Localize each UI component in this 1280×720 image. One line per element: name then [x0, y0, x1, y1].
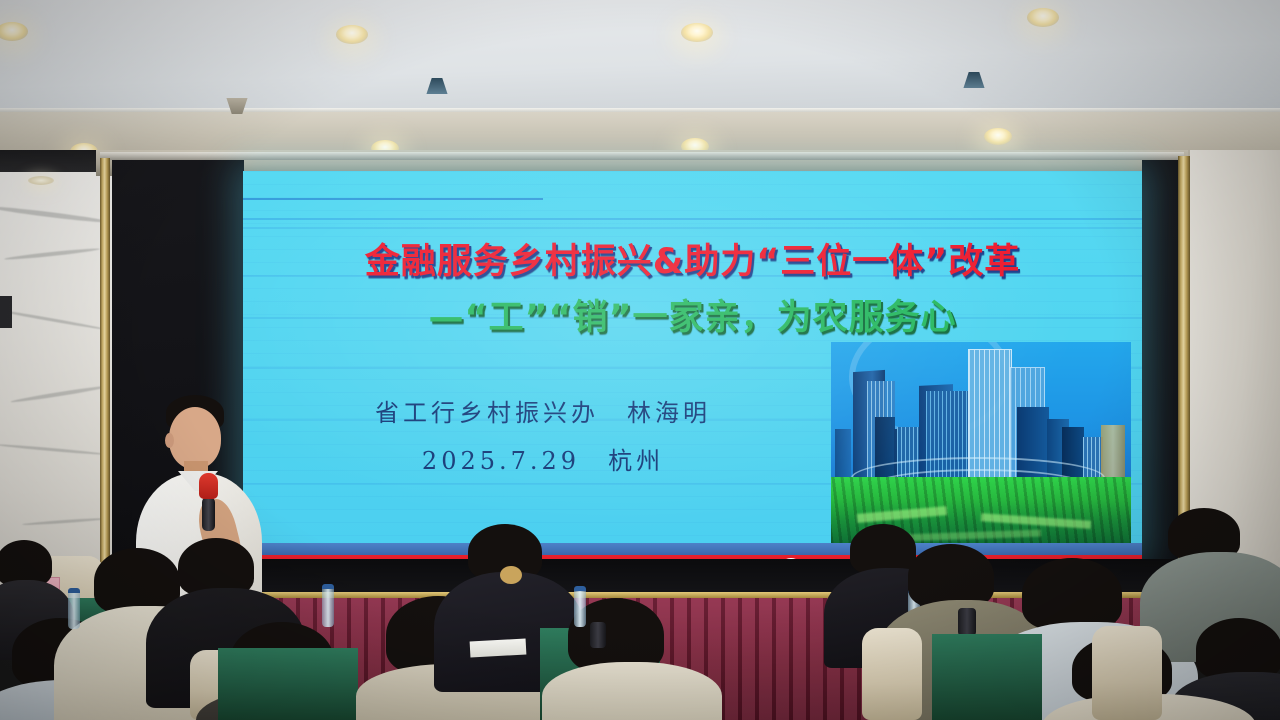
delegate-table [218, 648, 358, 720]
presenter-head [169, 407, 221, 469]
audience-member [0, 540, 62, 630]
slide-dateline: 2025.7.29 杭州 [303, 441, 783, 476]
thermos-cup[interactable] [958, 608, 976, 636]
led-presentation-screen[interactable]: 金融服务乡村振兴&助力“三位一体”改革 —“工”“销”一家亲，为农服务心 省工行… [243, 171, 1142, 559]
water-bottle[interactable] [574, 586, 586, 627]
recessed-downlight [336, 25, 368, 44]
stage-valance-rail [100, 152, 1184, 160]
screen-bandline [243, 198, 543, 200]
microphone-handle [202, 497, 215, 531]
wall-wash-light [28, 176, 54, 185]
audience-hair [1022, 558, 1122, 630]
recessed-downlight [1027, 8, 1059, 27]
audience-ponytail [500, 566, 522, 584]
handout-paper[interactable] [470, 639, 527, 658]
thermos-cup[interactable] [590, 622, 606, 648]
screen-bandline [243, 218, 1142, 220]
recessed-downlight [681, 23, 713, 42]
water-bottle[interactable] [322, 584, 334, 627]
slide-title-line2: —“工”“销”一家亲，为农服务心 [243, 289, 1142, 340]
audience-torso [542, 662, 722, 720]
chair [1092, 626, 1162, 720]
chair [862, 628, 922, 720]
slide-title-line1: 金融服务乡村振兴&助力“三位一体”改革 [243, 233, 1142, 284]
water-bottle[interactable] [68, 588, 80, 629]
microphone-head [199, 473, 218, 499]
wall-art-frame [0, 296, 12, 328]
audience-hair [908, 544, 994, 608]
slide-city-image [831, 342, 1131, 547]
recessed-downlight [984, 128, 1012, 145]
conference-photo-scene: 金融服务乡村振兴&助力“三位一体”改革 —“工”“销”一家亲，为农服务心 省工行… [0, 0, 1280, 720]
delegate-table [932, 634, 1042, 720]
slide-byline: 省工行乡村振兴办 林海明 [303, 393, 783, 428]
presenter-ear [165, 433, 174, 448]
screen-bandline [243, 227, 1142, 229]
